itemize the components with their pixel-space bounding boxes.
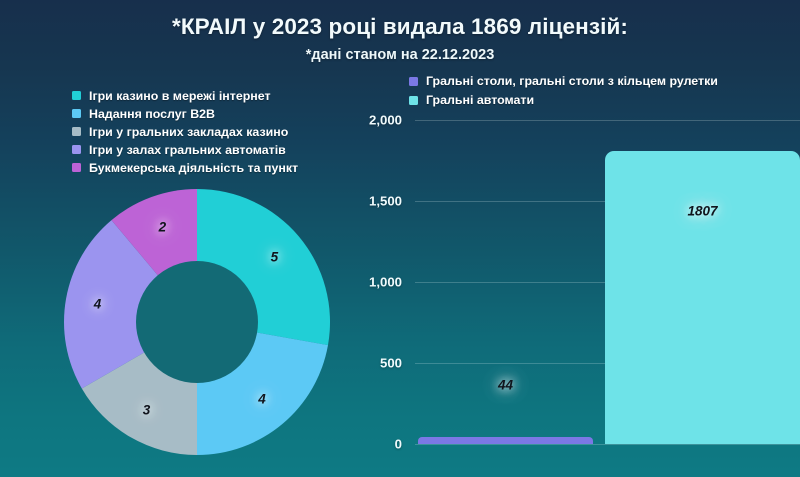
donut-value-label: 3	[143, 402, 151, 417]
donut-chart: 5 4 3 4 2	[64, 189, 330, 455]
legend-swatch-icon	[72, 91, 81, 100]
donut-value-label: 2	[159, 220, 167, 235]
legend-item-label: Ігри у гральних закладах казино	[89, 125, 288, 139]
legend-item-label: Надання послуг B2B	[89, 107, 215, 121]
legend-item-label: Ігри казино в мережі інтернет	[89, 89, 271, 103]
legend-item[interactable]: Ігри у гральних закладах казино	[72, 123, 298, 140]
y-axis-tick-label: 500	[312, 356, 402, 371]
legend-item[interactable]: Гральні столи, гральні столи з кільцем р…	[409, 72, 718, 90]
legend-swatch-icon	[72, 163, 81, 172]
legend-item[interactable]: Надання послуг B2B	[72, 105, 298, 122]
donut-svg	[64, 189, 330, 455]
donut-value-label: 4	[258, 392, 266, 407]
donut-hole	[136, 261, 258, 383]
bar-gaming-tables[interactable]	[418, 437, 593, 444]
page-title: *КРАІЛ у 2023 році видала 1869 ліцензій:	[0, 14, 800, 40]
legend-item-label: Букмекерська діяльність та пункт	[89, 161, 298, 175]
legend-swatch-icon	[72, 145, 81, 154]
gridline	[415, 444, 800, 445]
gridline	[415, 120, 800, 121]
legend-swatch-icon	[72, 127, 81, 136]
bar-value-label: 44	[498, 377, 513, 392]
legend-item[interactable]: Букмекерська діяльність та пункт	[72, 159, 298, 176]
bar-chart: 2,000 1,500 1,000 500 0 44 1807	[345, 100, 800, 477]
y-axis-tick-label: 1,500	[312, 194, 402, 209]
donut-value-label: 5	[271, 250, 279, 265]
y-axis-tick-label: 1,000	[312, 275, 402, 290]
infographic-canvas: *КРАІЛ у 2023 році видала 1869 ліцензій:…	[0, 0, 800, 477]
legend-item-label: Гральні столи, гральні столи з кільцем р…	[426, 74, 718, 88]
legend-item[interactable]: Ігри казино в мережі інтернет	[72, 87, 298, 104]
legend-item-label: Ігри у залах гральних автоматів	[89, 143, 286, 157]
y-axis-tick-label: 0	[312, 437, 402, 452]
page-subtitle: *дані станом на 22.12.2023	[0, 47, 800, 63]
donut-value-label: 4	[94, 297, 102, 312]
legend-swatch-icon	[72, 109, 81, 118]
bar-slot-machines[interactable]	[605, 151, 800, 444]
legend-swatch-icon	[409, 77, 418, 86]
legend-item[interactable]: Ігри у залах гральних автоматів	[72, 141, 298, 158]
y-axis-tick-label: 2,000	[312, 113, 402, 128]
donut-legend: Ігри казино в мережі інтернет Надання по…	[72, 87, 298, 177]
bar-value-label: 1807	[687, 204, 717, 219]
